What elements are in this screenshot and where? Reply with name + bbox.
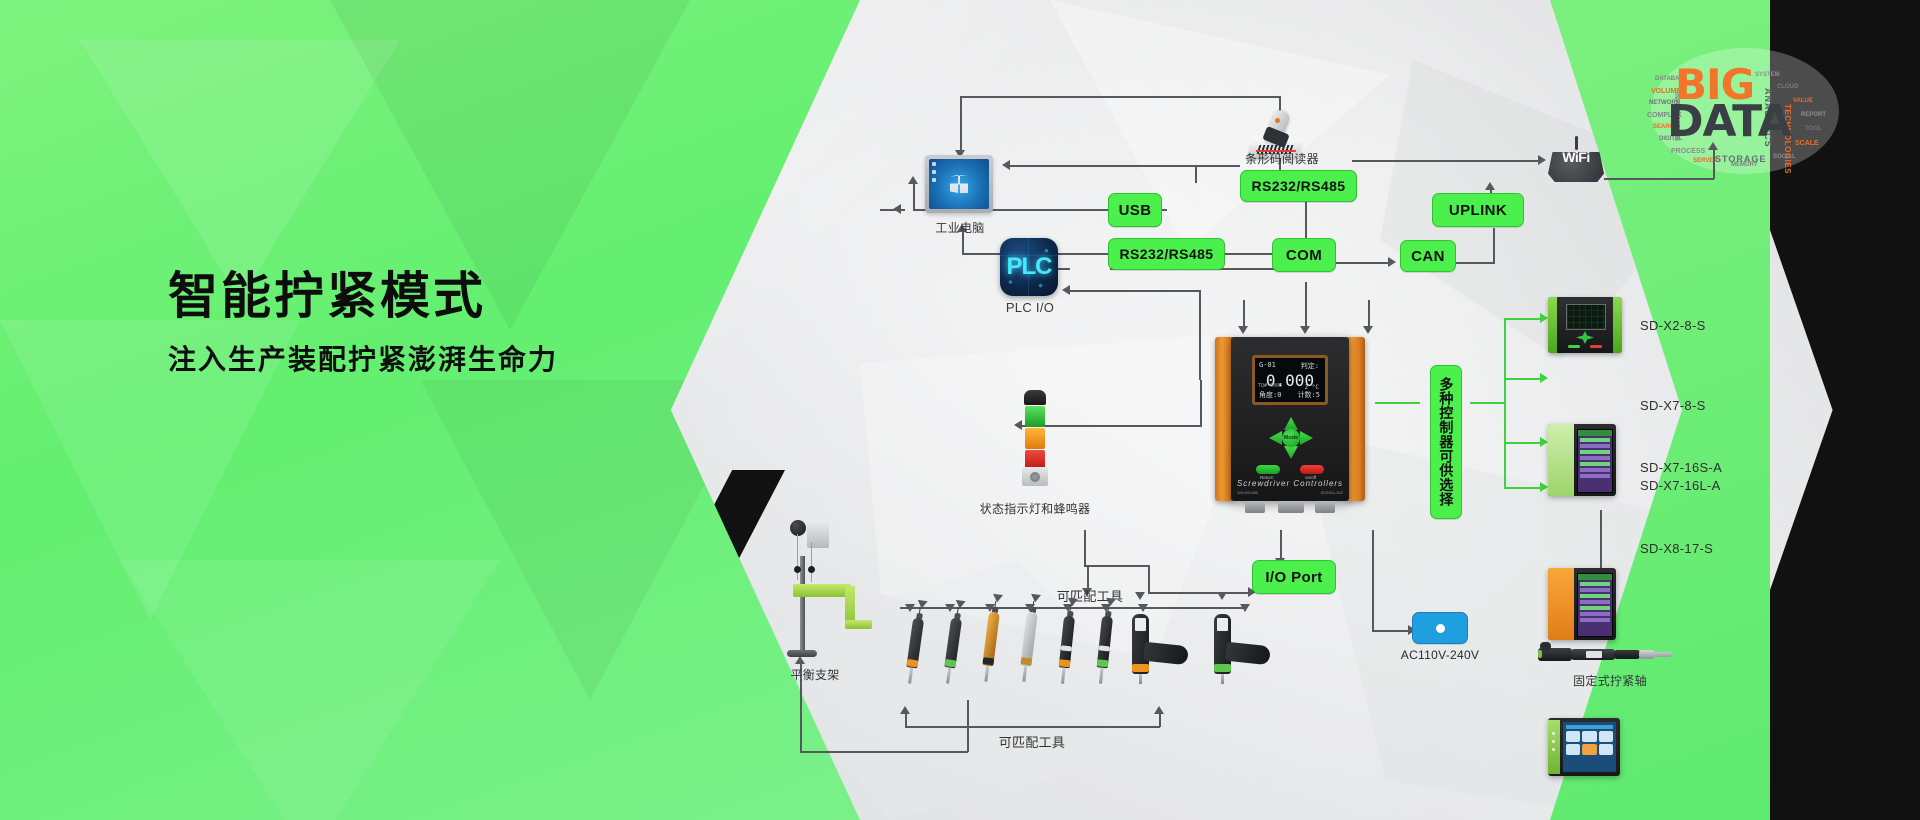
link-line: [1450, 262, 1495, 264]
arrow-head: [1154, 706, 1164, 714]
link-line: [1199, 290, 1201, 380]
arrow-head-green: [1540, 313, 1548, 323]
controller-dpad[interactable]: Mode: [1269, 417, 1313, 459]
controller-brand-text: Screwdriver Controllers: [1215, 479, 1365, 488]
onoff-button[interactable]: [1300, 465, 1324, 474]
tool-pistol-screwdriver[interactable]: [1130, 614, 1196, 692]
controller-lcd-display: G-01 判定: 0.000 TQ# 0005 2 °C 角度:0 计数:5: [1252, 355, 1328, 405]
link-line: [1332, 262, 1392, 264]
lcd-count: 计数:5: [1298, 390, 1320, 400]
monitor-screen: [929, 159, 989, 209]
link-line: [1713, 146, 1715, 179]
return-button[interactable]: [1256, 465, 1280, 474]
link-line: [913, 180, 915, 210]
link-line-green: [1504, 318, 1544, 320]
stack-light-icon: [1022, 390, 1048, 486]
link-line-green: [1504, 442, 1544, 444]
lcd-program: G-01: [1259, 361, 1276, 369]
arrow-head: [955, 600, 966, 609]
wifi-router[interactable]: WiFi: [1548, 140, 1604, 182]
port-io[interactable]: I/O Port: [1252, 560, 1336, 594]
dpad-down-button[interactable]: [1284, 446, 1298, 459]
arrow-head: [900, 706, 910, 714]
link-line: [1084, 530, 1086, 566]
port-io-label: I/O Port: [1265, 569, 1322, 586]
controller-connector: [1278, 501, 1304, 513]
lcd-torque-id: TQ# 0005: [1258, 383, 1282, 389]
controller-model-sd-x7-8s[interactable]: [1548, 424, 1616, 496]
arrow-head: [1217, 592, 1227, 600]
power-input-label: AC110V-240V: [1390, 648, 1490, 662]
model-dpad-icon: [1576, 331, 1594, 344]
arrow-head: [1002, 160, 1010, 170]
arrow-head: [992, 594, 1003, 603]
link-line: [1195, 165, 1197, 183]
windows-logo-icon: [950, 175, 968, 193]
arrow-head-green: [1540, 482, 1548, 492]
arrow-head: [1030, 594, 1041, 603]
plc-io-label: PLC I/O: [985, 300, 1075, 315]
arrow-head-green: [1540, 437, 1548, 447]
stack-light-label: 状态指示灯和蜂鸣器: [975, 500, 1095, 517]
big-data-cloud: DATABASE VOLUME NETWORK COMPLEX SEARCH D…: [1645, 42, 1845, 177]
link-line: [960, 96, 1280, 98]
link-line: [1352, 160, 1542, 162]
industrial-pc-monitor: [925, 155, 993, 213]
power-input-badge[interactable]: [1412, 612, 1468, 644]
dpad-left-button[interactable]: [1269, 431, 1282, 445]
controller-connector: [1315, 501, 1335, 513]
barcode-reader-label: 条形码阅读器: [1222, 150, 1342, 167]
link-line-green: [1375, 402, 1420, 404]
arrow-head: [905, 604, 915, 612]
controller-connector: [1245, 501, 1265, 513]
port-rs232-top[interactable]: RS232/RS485: [1240, 170, 1357, 202]
arrow-head-green: [1540, 373, 1548, 383]
plc-icon: PLC: [1000, 238, 1058, 296]
link-line: [1493, 228, 1495, 263]
arrow-head: [1138, 604, 1148, 612]
link-line: [1372, 630, 1412, 632]
controller-model-sd-x7-16[interactable]: [1548, 568, 1616, 640]
arrow-head: [917, 600, 928, 609]
tool-pistol-screwdriver[interactable]: [1212, 614, 1278, 692]
wifi-icon: WiFi: [1548, 140, 1604, 182]
controller-serial-right: SD2001-202: [1321, 490, 1343, 495]
model-screen: [1566, 304, 1606, 330]
port-usb[interactable]: USB: [1108, 193, 1162, 227]
plc-icon-text: PLC: [1000, 253, 1058, 281]
link-line: [1159, 712, 1161, 727]
controller-model-label: SD-X8-17-S: [1640, 541, 1713, 556]
arrow-head: [1240, 604, 1250, 612]
fixed-spindle-label: 固定式拧紧轴: [1545, 672, 1675, 689]
arrow-head: [985, 604, 995, 612]
infographic-canvas: 智能拧紧模式 注入生产装配拧紧澎湃生命力: [0, 0, 1920, 820]
wifi-label: WiFi: [1548, 149, 1604, 165]
link-line: [1604, 178, 1714, 180]
port-can-label: CAN: [1411, 248, 1445, 265]
port-rs232-top-label: RS232/RS485: [1252, 178, 1346, 194]
tools-bottom-label: 可匹配工具: [982, 732, 1082, 751]
industrial-pc[interactable]: [925, 155, 993, 213]
controller-model-label: SD-X7-8-S: [1640, 398, 1706, 413]
arrow-head: [1101, 604, 1111, 612]
controller-model-label: SD-X7-16S-A: [1640, 460, 1722, 475]
arrow-head: [1708, 142, 1718, 150]
link-line-green: [1504, 318, 1506, 488]
arrow-head: [1135, 592, 1145, 600]
lcd-judge: 判定:: [1301, 361, 1319, 371]
port-uplink-label: UPLINK: [1449, 202, 1507, 219]
stack-light-buzzer[interactable]: [1022, 390, 1048, 486]
port-can[interactable]: CAN: [1400, 240, 1456, 272]
link-line: [1372, 530, 1374, 632]
page-title: 智能拧紧模式: [168, 268, 558, 326]
model-screen: [1577, 573, 1613, 637]
arrow-head: [1025, 604, 1035, 612]
model-screen: [1577, 429, 1613, 493]
link-line: [1084, 565, 1150, 567]
port-rs232-left[interactable]: RS232/RS485: [1108, 238, 1225, 270]
banner-headline: 智能拧紧模式 注入生产装配拧紧澎湃生命力: [168, 268, 558, 378]
arrow-head: [1485, 182, 1495, 190]
link-line: [1148, 592, 1253, 594]
arrow-head: [1062, 285, 1070, 295]
arrow-head: [1063, 604, 1073, 612]
dpad-right-button[interactable]: [1300, 431, 1313, 445]
port-com[interactable]: COM: [1272, 238, 1336, 272]
plc-io-device[interactable]: PLC: [1000, 238, 1058, 296]
link-line: [880, 209, 905, 211]
controller-selector-note: 多种控制器可供选择: [1430, 365, 1462, 519]
mode-button[interactable]: Mode: [1282, 429, 1300, 447]
desktop-icons: [932, 162, 937, 186]
link-line: [1070, 290, 1200, 292]
link-line: [905, 726, 1160, 728]
industrial-pc-label: 工业电脑: [905, 219, 1015, 236]
fixed-spindle[interactable]: [1538, 640, 1678, 666]
link-line: [1200, 380, 1202, 426]
main-screwdriver-controller[interactable]: G-01 判定: 0.000 TQ# 0005 2 °C 角度:0 计数:5 M…: [1215, 333, 1365, 508]
arrow-head: [1388, 257, 1396, 267]
link-line-green: [1504, 487, 1544, 489]
port-usb-label: USB: [1119, 202, 1152, 219]
controller-unit: G-01 判定: 0.000 TQ# 0005 2 °C 角度:0 计数:5 M…: [1215, 333, 1365, 508]
port-rs232-left-label: RS232/RS485: [1120, 246, 1214, 262]
link-line-green: [1470, 402, 1505, 404]
link-line: [1022, 425, 1202, 427]
link-line: [1148, 565, 1150, 593]
controller-model-sd-x2[interactable]: [1548, 297, 1622, 353]
model-screen: [1563, 722, 1616, 772]
port-com-label: COM: [1286, 247, 1322, 264]
controller-model-sd-x8[interactable]: [1548, 718, 1620, 776]
link-line: [1010, 165, 1240, 167]
balance-arm[interactable]: [765, 520, 875, 660]
arrow-head: [1538, 155, 1546, 165]
bigdata-word-data: DATA: [1667, 96, 1791, 147]
arrow-head: [1014, 420, 1022, 430]
tools-top-label: 可匹配工具: [1040, 586, 1140, 605]
link-line: [1305, 282, 1307, 330]
link-line: [905, 712, 907, 727]
arrow-head: [945, 604, 955, 612]
balance-arm-label: 平衡支架: [760, 666, 870, 683]
controller-model-label: SD-X7-16L-A: [1640, 478, 1721, 493]
link-line-green: [1504, 378, 1544, 380]
controller-serial-left: S/N:000480: [1237, 490, 1258, 495]
link-line: [960, 96, 962, 154]
arrow-head: [908, 176, 918, 184]
port-uplink[interactable]: UPLINK: [1432, 193, 1524, 227]
controller-model-label: SD-X2-8-S: [1640, 318, 1706, 333]
page-subtitle: 注入生产装配拧紧澎湃生命力: [168, 338, 558, 378]
lcd-angle: 角度:0: [1259, 390, 1281, 400]
controller-selector-text: 多种控制器可供选择: [1439, 377, 1454, 507]
link-line: [800, 751, 968, 753]
